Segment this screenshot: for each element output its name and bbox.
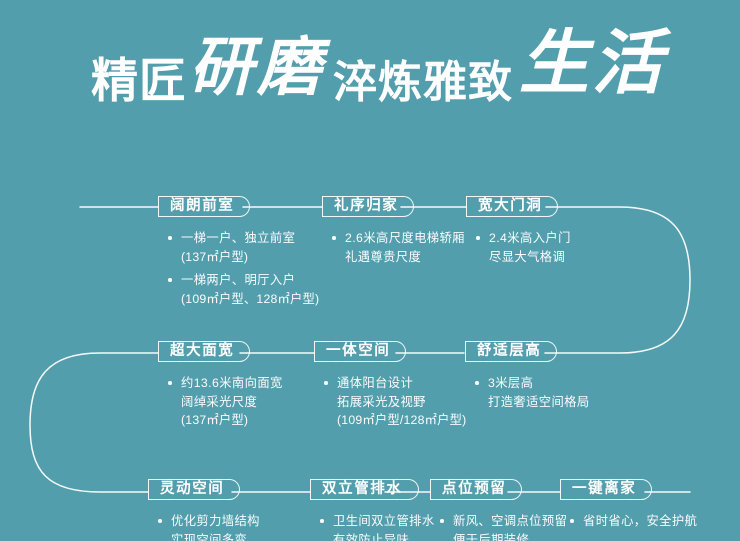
bullet-line: 一梯两户、明厅入户: [181, 271, 319, 290]
feature-card: 点位预留 新风、空调点位预留 便于后期装修: [430, 479, 567, 541]
bullet-dot-icon: [158, 519, 162, 523]
bullet-line: (109㎡户型/128㎡户型): [337, 411, 466, 430]
bullet-line: 拓展采光及视野: [337, 393, 466, 412]
bullet-item: 省时省心，安全护航: [570, 512, 697, 531]
card-title: 灵动空间: [160, 479, 224, 500]
card-title: 宽大门洞: [478, 196, 542, 217]
feature-card: 一键离家 省时省心，安全护航: [560, 479, 697, 536]
feature-card: 舒适层高 3米层高 打造奢适空间格局: [465, 341, 590, 416]
bullet-item: 2.6米高尺度电梯轿厢 礼遇尊贵尺度: [332, 229, 465, 266]
feature-card: 宽大门洞 2.4米高入户门 尽显大气格调: [466, 196, 571, 271]
bullet-line: 新风、空调点位预留: [453, 512, 567, 531]
bullet-line: 有效防止异味: [333, 531, 435, 541]
card-bullets: 一梯一户、独立前室 (137㎡户型) 一梯两户、明厅入户 (109㎡户型、128…: [158, 229, 319, 308]
bullet-line: 礼遇尊贵尺度: [345, 248, 465, 267]
card-bullets: 通体阳台设计 拓展采光及视野 (109㎡户型/128㎡户型): [314, 374, 466, 430]
bullet-dot-icon: [324, 381, 328, 385]
bullet-line: 实现空间多变: [171, 531, 260, 541]
bullet-line: (109㎡户型、128㎡户型): [181, 290, 319, 309]
bullet-item: 一梯两户、明厅入户 (109㎡户型、128㎡户型): [168, 271, 319, 308]
bullet-line: 尽显大气格调: [489, 248, 571, 267]
bullet-line: 一梯一户、独立前室: [181, 229, 319, 248]
card-title: 舒适层高: [477, 341, 541, 362]
bullet-dot-icon: [475, 381, 479, 385]
bullet-dot-icon: [476, 236, 480, 240]
bullet-dot-icon: [320, 519, 324, 523]
bullet-dot-icon: [168, 381, 172, 385]
card-title: 超大面宽: [170, 341, 234, 362]
bullet-item: 新风、空调点位预留 便于后期装修: [440, 512, 567, 541]
card-title: 阔朗前室: [170, 196, 234, 217]
bullet-line: 2.4米高入户门: [489, 229, 571, 248]
card-title: 双立管排水: [322, 479, 403, 500]
bullet-line: 卫生间双立管排水: [333, 512, 435, 531]
bullet-dot-icon: [440, 519, 444, 523]
card-title: 点位预留: [442, 479, 506, 500]
bullet-dot-icon: [570, 519, 574, 523]
bullet-line: 阔绰采光尺度: [181, 393, 283, 412]
feature-card: 超大面宽 约13.6米南向面宽 阔绰采光尺度 (137㎡户型): [158, 341, 283, 435]
bullet-line: (137㎡户型): [181, 248, 319, 267]
card-bullets: 优化剪力墙结构 实现空间多变: [148, 512, 260, 541]
feature-card: 阔朗前室 一梯一户、独立前室 (137㎡户型) 一梯两户、明厅入户 (109㎡户…: [158, 196, 319, 313]
card-title-pill: 宽大门洞: [466, 196, 558, 217]
card-bullets: 卫生间双立管排水 有效防止异味: [310, 512, 435, 541]
feature-card: 灵动空间 优化剪力墙结构 实现空间多变: [148, 479, 260, 541]
card-title-pill: 舒适层高: [465, 341, 557, 362]
bullet-item: 通体阳台设计 拓展采光及视野 (109㎡户型/128㎡户型): [324, 374, 466, 430]
card-bullets: 省时省心，安全护航: [560, 512, 697, 531]
card-title-pill: 礼序归家: [322, 196, 414, 217]
card-title-pill: 一体空间: [314, 341, 406, 362]
card-bullets: 3米层高 打造奢适空间格局: [465, 374, 590, 411]
bullet-line: 省时省心，安全护航: [583, 512, 697, 531]
card-title-pill: 点位预留: [430, 479, 522, 500]
bullet-dot-icon: [168, 236, 172, 240]
bullet-item: 2.4米高入户门 尽显大气格调: [476, 229, 571, 266]
card-title-pill: 灵动空间: [148, 479, 240, 500]
bullet-item: 优化剪力墙结构 实现空间多变: [158, 512, 260, 541]
bullet-line: 便于后期装修: [453, 531, 567, 541]
bullet-line: 打造奢适空间格局: [488, 393, 590, 412]
card-title: 一键离家: [572, 479, 636, 500]
bullet-dot-icon: [332, 236, 336, 240]
card-title-pill: 双立管排水: [310, 479, 419, 500]
bullet-line: (137㎡户型): [181, 411, 283, 430]
card-title: 礼序归家: [334, 196, 398, 217]
bullet-line: 通体阳台设计: [337, 374, 466, 393]
bullet-item: 卫生间双立管排水 有效防止异味: [320, 512, 435, 541]
bullet-line: 2.6米高尺度电梯轿厢: [345, 229, 465, 248]
card-title-pill: 超大面宽: [158, 341, 250, 362]
card-bullets: 2.6米高尺度电梯轿厢 礼遇尊贵尺度: [322, 229, 465, 266]
card-bullets: 约13.6米南向面宽 阔绰采光尺度 (137㎡户型): [158, 374, 283, 430]
feature-card: 双立管排水 卫生间双立管排水 有效防止异味: [310, 479, 435, 541]
card-bullets: 新风、空调点位预留 便于后期装修: [430, 512, 567, 541]
poster-canvas: 精匠研磨淬炼雅致生活 阔朗前室: [0, 0, 740, 541]
feature-card: 一体空间 通体阳台设计 拓展采光及视野 (109㎡户型/128㎡户型): [314, 341, 466, 435]
bullet-item: 一梯一户、独立前室 (137㎡户型): [168, 229, 319, 266]
bullet-item: 约13.6米南向面宽 阔绰采光尺度 (137㎡户型): [168, 374, 283, 430]
bullet-dot-icon: [168, 278, 172, 282]
bullet-line: 优化剪力墙结构: [171, 512, 260, 531]
card-title-pill: 一键离家: [560, 479, 652, 500]
card-title: 一体空间: [326, 341, 390, 362]
bullet-line: 约13.6米南向面宽: [181, 374, 283, 393]
card-title-pill: 阔朗前室: [158, 196, 250, 217]
bullet-line: 3米层高: [488, 374, 590, 393]
feature-card: 礼序归家 2.6米高尺度电梯轿厢 礼遇尊贵尺度: [322, 196, 465, 271]
bullet-item: 3米层高 打造奢适空间格局: [475, 374, 590, 411]
card-bullets: 2.4米高入户门 尽显大气格调: [466, 229, 571, 266]
